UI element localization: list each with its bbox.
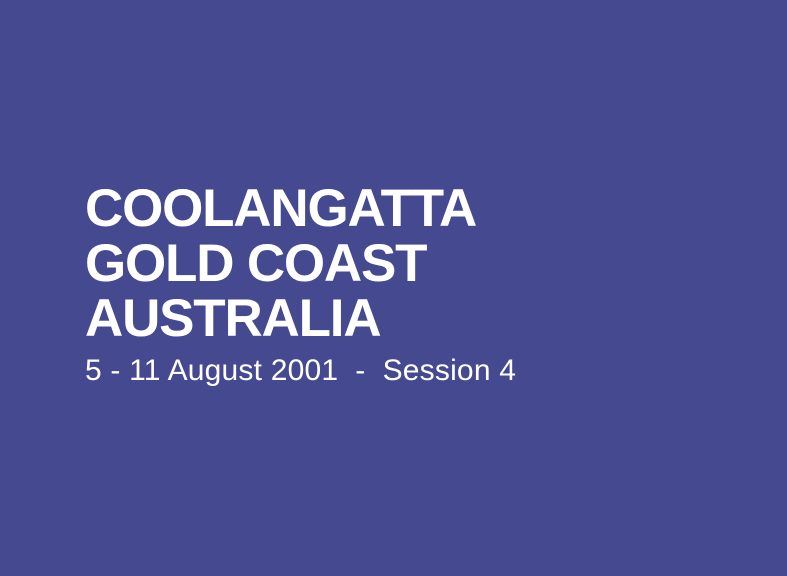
title-line-gold-coast: GOLD COAST (85, 236, 725, 291)
title-slide: COOLANGATTA GOLD COAST AUSTRALIA 5 - 11 … (0, 0, 787, 576)
subtitle-date-session: 5 - 11 August 2001 - Session 4 (85, 354, 725, 388)
title-block: COOLANGATTA GOLD COAST AUSTRALIA 5 - 11 … (85, 181, 725, 388)
title-line-australia: AUSTRALIA (85, 291, 725, 346)
title-line-coolangatta: COOLANGATTA (85, 181, 725, 236)
